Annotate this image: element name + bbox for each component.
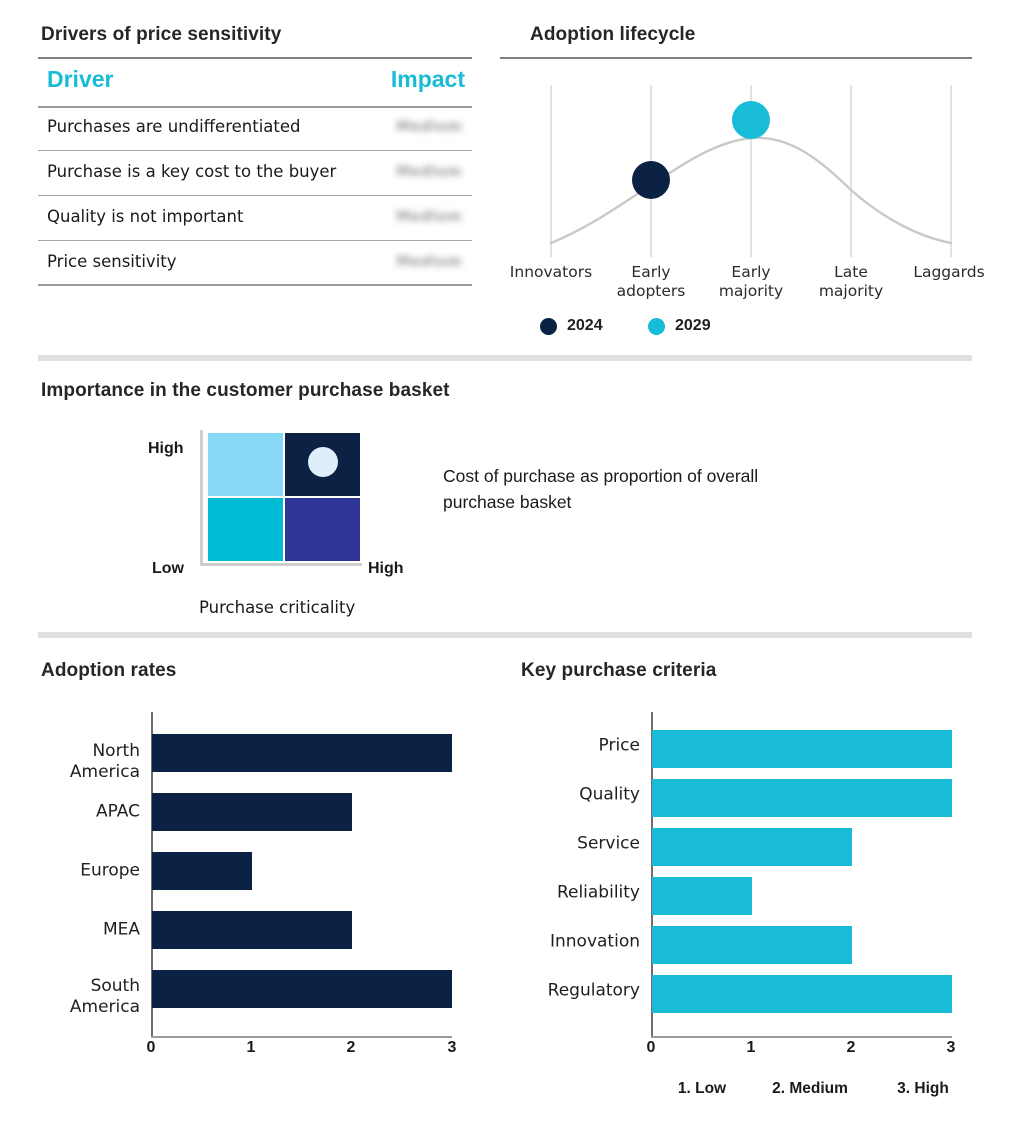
driver-cell: Purchases are undifferentiated (47, 117, 300, 136)
lifecycle-xlabel-line: majority (719, 282, 783, 301)
drivers-title-rule (38, 57, 472, 59)
bar-quality[interactable] (652, 779, 952, 817)
lifecycle-xlabel-line: Laggards (913, 263, 984, 281)
matrix-position-marker (308, 447, 338, 477)
lifecycle-xlabel-early-majority: Early majority (719, 263, 783, 301)
category-label-apac: APAC (96, 802, 140, 823)
criteria-xtick-1: 1 (747, 1039, 756, 1057)
legend-item-2029[interactable]: 2029 (648, 317, 711, 335)
lifecycle-xlabel-line: Early (617, 263, 686, 282)
scale-note-low: 1. Low (678, 1080, 726, 1098)
legend-swatch-2029 (648, 318, 665, 335)
category-label-line: Service (577, 834, 640, 855)
lifecycle-xlabel-line: Early (719, 263, 783, 282)
legend-item-2024[interactable]: 2024 (540, 317, 603, 335)
basket-panel-title: Importance in the customer purchase bask… (41, 380, 450, 402)
lifecycle-xlabel-line: Late (819, 263, 883, 282)
lifecycle-xlabel-innovators: Innovators (510, 263, 592, 282)
matrix-quadrant-top-right[interactable] (285, 433, 360, 496)
table-row[interactable]: Purchase is a key cost to the buyer Medi… (38, 151, 472, 196)
criteria-xtick-2: 2 (847, 1039, 856, 1057)
table-bottom-rule (38, 284, 472, 286)
legend-label-2029: 2029 (675, 317, 711, 335)
adoption-rates-chart (151, 712, 471, 1037)
adoption-xtick-3: 3 (448, 1039, 457, 1057)
matrix-y-low-label: Low (152, 560, 184, 578)
matrix-y-high-label: High (148, 440, 184, 458)
matrix-x-axis-title: Purchase criticality (199, 598, 355, 617)
matrix-x-axis (200, 563, 362, 566)
matrix-annotation-note: Cost of purchase as proportion of overal… (443, 463, 803, 515)
category-label-regulatory: Regulatory (548, 981, 640, 1002)
impact-cell-redacted: Medium (396, 209, 462, 225)
section-divider-bottom (38, 632, 972, 638)
criteria-panel-title: Key purchase criteria (521, 660, 716, 682)
category-label-innovation: Innovation (550, 932, 640, 953)
lifecycle-xlabel-line: majority (819, 282, 883, 301)
lifecycle-xlabel-line: adopters (617, 282, 686, 301)
bar-europe[interactable] (152, 852, 252, 890)
table-row[interactable]: Price sensitivity Medium (38, 241, 472, 286)
criteria-xtick-0: 0 (647, 1039, 656, 1057)
column-header-impact: Impact (391, 66, 465, 93)
bar-apac[interactable] (152, 793, 352, 831)
bar-south-america[interactable] (152, 970, 452, 1008)
matrix-quadrant-top-left[interactable] (208, 433, 283, 496)
category-label-line: Regulatory (548, 981, 640, 1002)
adoption-lifecycle-chart (500, 80, 1000, 260)
bar-service[interactable] (652, 828, 852, 866)
category-label-line: America (70, 997, 140, 1018)
lifecycle-xlabel-late-majority: Late majority (819, 263, 883, 301)
category-label-europe: Europe (80, 861, 140, 882)
category-label-line: Reliability (557, 883, 640, 904)
drivers-panel-title: Drivers of price sensitivity (41, 24, 281, 46)
impact-cell-redacted: Medium (396, 119, 462, 135)
adoption-rates-panel-title: Adoption rates (41, 660, 176, 682)
lifecycle-xlabel-early-adopters: Early adopters (617, 263, 686, 301)
section-divider-top (38, 355, 972, 361)
scale-note-medium: 2. Medium (772, 1080, 848, 1098)
lifecycle-title-rule (500, 57, 972, 59)
criteria-x-axis (651, 1036, 952, 1038)
criteria-xtick-3: 3 (947, 1039, 956, 1057)
lifecycle-xlabel-laggards: Laggards (913, 263, 984, 282)
category-label-line: Europe (80, 861, 140, 882)
legend-label-2024: 2024 (567, 317, 603, 335)
bar-price[interactable] (652, 730, 952, 768)
category-label-service: Service (577, 834, 640, 855)
matrix-quadrant-bottom-left[interactable] (208, 498, 283, 561)
adoption-x-axis (151, 1036, 452, 1038)
impact-cell-redacted: Medium (396, 164, 462, 180)
matrix-y-axis (200, 430, 203, 566)
adoption-xtick-1: 1 (247, 1039, 256, 1057)
bar-reliability[interactable] (652, 877, 752, 915)
category-label-south-america: South America (70, 976, 140, 1018)
marker-2029[interactable] (732, 101, 770, 139)
adoption-xtick-2: 2 (347, 1039, 356, 1057)
legend-swatch-2024 (540, 318, 557, 335)
category-label-line: North (70, 741, 140, 762)
drivers-table-header-row: Driver Impact (38, 66, 472, 104)
scale-note-high: 3. High (897, 1080, 949, 1098)
category-label-mea: MEA (103, 920, 140, 941)
matrix-quadrant-bottom-right[interactable] (285, 498, 360, 561)
category-label-line: APAC (96, 802, 140, 823)
bar-mea[interactable] (152, 911, 352, 949)
driver-cell: Purchase is a key cost to the buyer (47, 162, 336, 181)
category-label-line: South (70, 976, 140, 997)
category-label-line: America (70, 762, 140, 783)
key-purchase-criteria-chart (651, 712, 971, 1037)
drivers-table: Driver Impact Purchases are undifferenti… (38, 66, 472, 286)
bar-innovation[interactable] (652, 926, 852, 964)
category-label-reliability: Reliability (557, 883, 640, 904)
category-label-quality: Quality (579, 785, 640, 806)
table-row[interactable]: Purchases are undifferentiated Medium (38, 106, 472, 151)
marker-2024[interactable] (632, 161, 670, 199)
column-header-driver: Driver (47, 66, 113, 93)
category-label-line: Price (599, 736, 640, 757)
category-label-price: Price (599, 736, 640, 757)
category-label-line: Innovation (550, 932, 640, 953)
impact-cell-redacted: Medium (396, 254, 462, 270)
category-label-line: MEA (103, 920, 140, 941)
adoption-xtick-0: 0 (147, 1039, 156, 1057)
table-row[interactable]: Quality is not important Medium (38, 196, 472, 241)
matrix-x-high-label: High (368, 560, 404, 578)
lifecycle-xlabel-line: Innovators (510, 263, 592, 281)
category-label-line: Quality (579, 785, 640, 806)
category-label-north-america: North America (70, 741, 140, 783)
driver-cell: Price sensitivity (47, 252, 177, 271)
lifecycle-panel-title: Adoption lifecycle (530, 24, 695, 46)
driver-cell: Quality is not important (47, 207, 243, 226)
bar-regulatory[interactable] (652, 975, 952, 1013)
bar-north-america[interactable] (152, 734, 452, 772)
